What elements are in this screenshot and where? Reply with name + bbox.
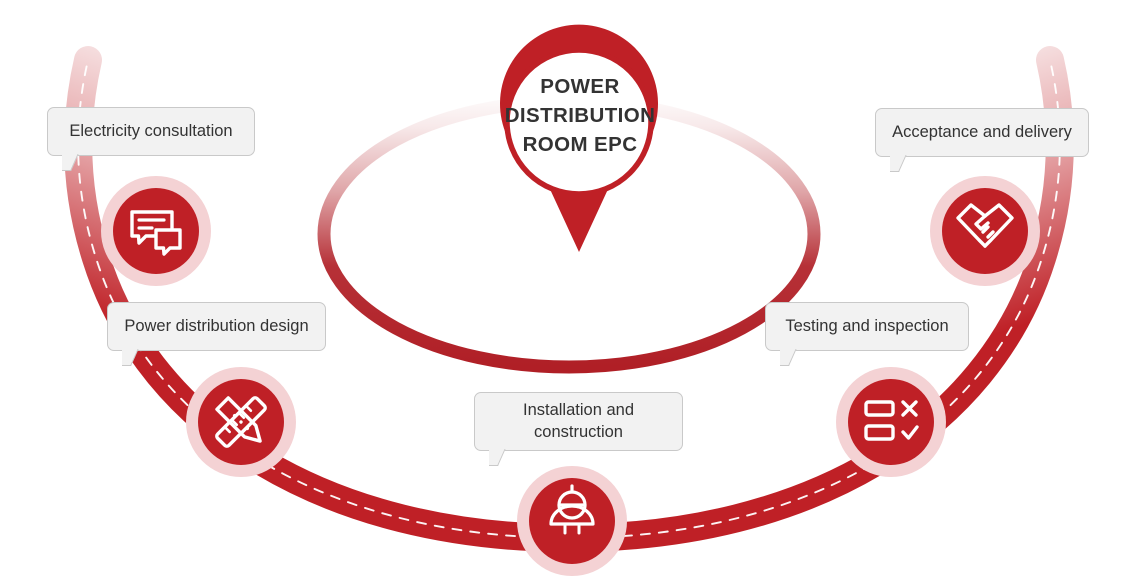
node-power-distribution-design[interactable] [186, 367, 296, 477]
infographic-canvas: POWER DISTRIBUTION ROOM EPC Electricity … [0, 0, 1139, 587]
callout-tail-icon [780, 349, 798, 366]
diagram-artwork [0, 0, 1139, 587]
node-circle-4 [848, 379, 934, 465]
node-electricity-consultation[interactable] [101, 176, 211, 286]
node-acceptance-delivery[interactable] [930, 176, 1040, 286]
step-label-text-3: Installation and construction [523, 400, 634, 442]
node-testing-inspection[interactable] [836, 367, 946, 477]
step-label-testing-inspection[interactable]: Testing and inspection [765, 302, 969, 351]
callout-tail-icon [890, 155, 908, 172]
callout-tail-icon [62, 154, 80, 171]
step-label-text-5: Acceptance and delivery [892, 122, 1072, 143]
step-label-electricity-consultation[interactable]: Electricity consultation [47, 107, 255, 156]
step-label-power-distribution-design[interactable]: Power distribution design [107, 302, 326, 351]
callout-tail-icon [489, 449, 507, 466]
step-label-text-4: Testing and inspection [785, 316, 948, 337]
step-label-acceptance-delivery[interactable]: Acceptance and delivery [875, 108, 1089, 157]
step-label-installation-construction[interactable]: Installation and construction [474, 392, 683, 451]
step-label-text-2: Power distribution design [124, 316, 308, 337]
node-installation-construction[interactable] [517, 466, 627, 576]
center-map-pin [500, 25, 658, 252]
step-label-text-1: Electricity consultation [69, 121, 232, 142]
callout-tail-icon [122, 349, 140, 366]
